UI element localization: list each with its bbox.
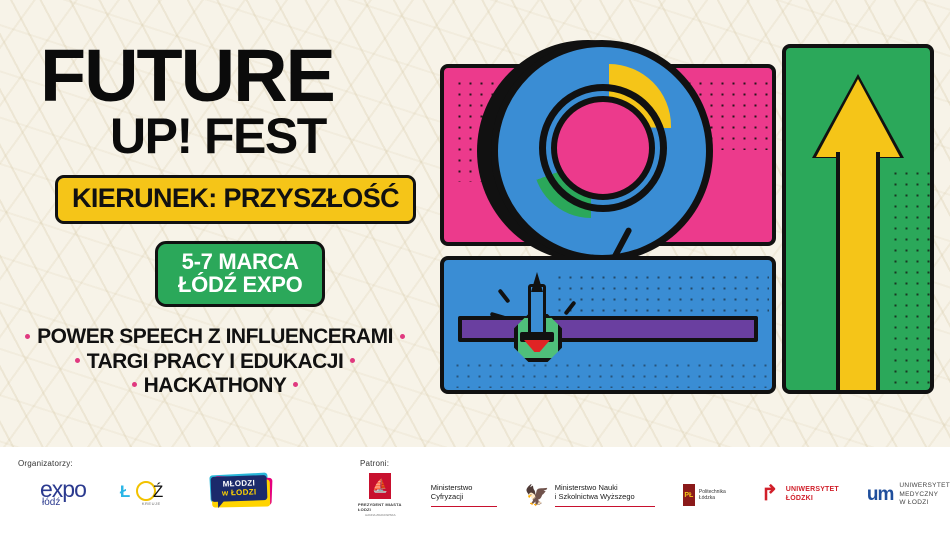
dot-pattern [554, 272, 769, 320]
highlight-text: TARGI PRACY I EDUKACJI [87, 350, 344, 373]
ul-arrow-icon: ↱ [761, 483, 781, 507]
arrow-panel [782, 44, 934, 394]
rocket-icon [506, 270, 568, 380]
magnifier-icon [477, 30, 727, 280]
poster-root: FUTURE UP! FEST KIERUNEK: PRZYSZŁOŚĆ 5-7… [0, 0, 950, 535]
page-subtitle: UP! FEST [110, 114, 430, 159]
mwl-line-2: w ŁODZI [222, 488, 257, 497]
politechnika-crest-icon: PŁ [683, 484, 695, 506]
circle-center [551, 96, 655, 200]
arrow-shaft [836, 152, 880, 392]
highlight-text: POWER SPEECH Z INFLUENCERAMI [37, 325, 393, 348]
logo-expo-lodz[interactable]: expo łódź [40, 478, 86, 508]
spark-icon [497, 288, 510, 303]
lodz-caption: KREUJE [142, 501, 161, 506]
bullet-dot-icon [400, 334, 405, 339]
patrons-logos: ⛵ PREZYDENT MIASTA ŁODZI HANNA ZDANOWSKA… [358, 473, 950, 517]
logo-ministerstwo-nauki[interactable]: 🦅 Ministerstwo Nauki i Szkolnictwa Wyższ… [525, 483, 655, 508]
dot-pattern [452, 360, 770, 388]
organizers-label: Organizatorzy: [18, 459, 73, 468]
ministry-name: Ministerstwo Nauki i Szkolnictwa Wyższeg… [555, 483, 655, 502]
logo-mlodzi-w-lodzi[interactable]: MŁODZI w ŁODZI [208, 473, 272, 513]
highlights-list: POWER SPEECH Z INFLUENCERAMI TARGI PRACY… [0, 325, 430, 398]
city-crest-icon: ⛵ [369, 473, 391, 499]
bullet-dot-icon [75, 358, 80, 363]
prezydent-line-2: HANNA ZDANOWSKA [365, 513, 396, 517]
bullet-dot-icon [132, 382, 137, 387]
bullet-dot-icon [25, 334, 30, 339]
logo-uniwersytet-medyczny[interactable]: um UNIWERSYTET MEDYCZNY W ŁODZI [867, 482, 950, 507]
highlight-text: HACKATHONY [144, 374, 287, 397]
ul-name: UNIWERSYTET ŁÓDZKI [786, 486, 839, 504]
bullet-dot-icon [350, 358, 355, 363]
bullet-dot-icon [293, 382, 298, 387]
patrons-label: Patroni: [360, 459, 389, 468]
arrow-head [816, 79, 900, 157]
logo-uniwersytet-lodzki[interactable]: ↱ UNIWERSYTET ŁÓDZKI [761, 483, 839, 507]
up-arrow-icon [812, 74, 904, 392]
lodz-letter-l: Ł [120, 482, 130, 502]
ministry-rule [431, 506, 497, 508]
list-item: TARGI PRACY I EDUKACJI [0, 350, 430, 374]
artwork [432, 44, 940, 406]
tagline-badge: KIERUNEK: PRZYSZŁOŚĆ [55, 175, 416, 224]
eagle-icon: 🦅 [525, 483, 550, 508]
date-line-1: 5-7 MARCA [178, 250, 302, 273]
rocket-panel [440, 256, 776, 394]
ministry-rule [555, 506, 655, 508]
logo-ministerstwo-cyfryzacji[interactable]: Ministerstwo Cyfryzacji [431, 483, 497, 507]
expo-sub: łódź [42, 498, 60, 508]
progress-bar [458, 316, 758, 342]
ministry-name: Ministerstwo Cyfryzacji [431, 483, 473, 502]
rocket-tip [531, 272, 543, 292]
ministry-text-block: Ministerstwo Nauki i Szkolnictwa Wyższeg… [555, 483, 655, 507]
list-item: POWER SPEECH Z INFLUENCERAMI [0, 325, 430, 349]
headline-block: FUTURE UP! FEST KIERUNEK: PRZYSZŁOŚĆ 5-7… [0, 44, 430, 398]
logo-politechnika-lodzka[interactable]: PŁ Politechnika Łódzka [683, 484, 733, 506]
um-wordmark: um [867, 484, 894, 506]
prezydent-line-1: PREZYDENT MIASTA ŁODZI [358, 502, 403, 512]
page-title: FUTURE [40, 44, 438, 108]
politechnika-name: Politechnika Łódzka [699, 489, 733, 501]
boat-icon: ⛵ [372, 478, 388, 494]
lodz-letter-z: Ź [153, 482, 163, 502]
date-line-2: ŁÓDŹ EXPO [178, 273, 302, 296]
logo-prezydent-miasta-lodzi[interactable]: ⛵ PREZYDENT MIASTA ŁODZI HANNA ZDANOWSKA [358, 473, 403, 517]
logo-lodz-kreuje[interactable]: Ł Ź KREUJE [120, 476, 174, 510]
organizers-logos: expo łódź Ł Ź KREUJE MŁODZI w ŁODZI [40, 473, 272, 513]
list-item: HACKATHONY [0, 374, 430, 398]
um-name: UNIWERSYTET MEDYCZNY W ŁODZI [899, 482, 950, 507]
bubble-layer-navy: MŁODZI w ŁODZI [210, 475, 267, 502]
date-badge: 5-7 MARCA ŁÓDŹ EXPO [155, 241, 325, 308]
footer: Organizatorzy: Patroni: expo łódź Ł Ź KR… [0, 447, 950, 535]
